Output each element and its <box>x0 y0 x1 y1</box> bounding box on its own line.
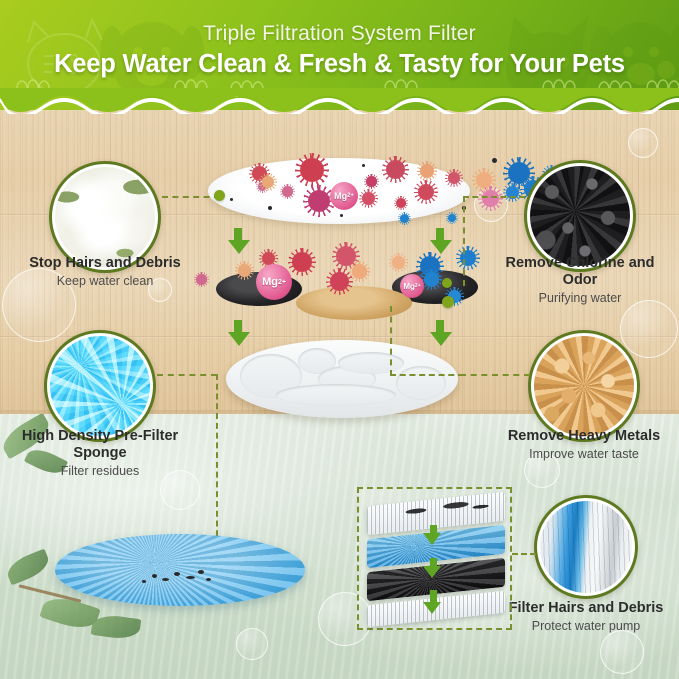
swatch-blue-sponge[interactable] <box>44 330 156 442</box>
feature-title: Stop Hairs and Debris <box>16 255 194 272</box>
magnesium-ion-badge: Mg2+ <box>330 182 358 210</box>
feature-title: Remove Heavy Metals <box>495 428 673 445</box>
connector-resin-2 <box>390 374 464 376</box>
header-subtitle: Keep Water Clean & Fresh & Tasty for You… <box>0 50 679 79</box>
trapped-hair-debris <box>397 495 492 521</box>
connector-layers <box>512 553 536 555</box>
label-remove-heavy-metals: Remove Heavy Metals Improve water taste <box>495 428 673 462</box>
connector-resin <box>460 374 530 376</box>
label-high-density-pre-filter-sponge: High Density Pre-Filter Sponge Filter re… <box>11 428 189 479</box>
feature-subtitle: Filter residues <box>11 463 189 479</box>
connector-carbon <box>463 196 525 198</box>
feature-title: Filter Hairs and Debris <box>497 600 675 617</box>
feature-title: Remove Chlorine and Odor <box>491 255 669 289</box>
feature-title: High Density Pre-Filter Sponge <box>11 428 189 462</box>
connector-resin-vertical <box>390 306 392 376</box>
filter-layer-stack <box>357 487 512 630</box>
resin-layer <box>296 286 412 320</box>
filter-tray <box>226 340 458 418</box>
swatch-filter-layers[interactable] <box>534 495 638 599</box>
feature-subtitle: Protect water pump <box>497 618 675 634</box>
swatch-ion-exchange-resin[interactable] <box>528 330 640 442</box>
label-remove-chlorine-and-odor: Remove Chlorine and Odor Purifying water <box>491 255 669 306</box>
header-title: Triple Filtration System Filter <box>0 22 679 46</box>
label-filter-hairs-and-debris: Filter Hairs and Debris Protect water pu… <box>497 600 675 634</box>
feature-subtitle: Improve water taste <box>495 446 673 462</box>
blue-sponge-disc <box>55 534 305 606</box>
connector-dot-cotton <box>214 190 225 201</box>
infographic-canvas: Triple Filtration System Filter Keep Wat… <box>0 0 679 679</box>
bubble-decor <box>620 300 678 358</box>
bubble-decor <box>628 128 658 158</box>
wave-divider <box>0 88 679 114</box>
connector-dot <box>442 278 452 288</box>
connector-carbon-vertical <box>463 196 465 286</box>
connector-sponge <box>157 374 217 376</box>
label-stop-hairs-and-debris: Stop Hairs and Debris Keep water clean <box>16 255 194 289</box>
bubble-decor <box>600 630 644 674</box>
magnesium-ion-badge-large: Mg2+ <box>256 264 292 300</box>
feature-subtitle: Purifying water <box>491 290 669 306</box>
bubble-decor <box>236 628 268 660</box>
connector-cotton <box>162 196 220 198</box>
feature-subtitle: Keep water clean <box>16 273 194 289</box>
magnesium-ion-badge-small: Mg2+ <box>400 274 424 298</box>
connector-dot <box>442 296 454 308</box>
connector-sponge-vertical <box>216 374 218 546</box>
